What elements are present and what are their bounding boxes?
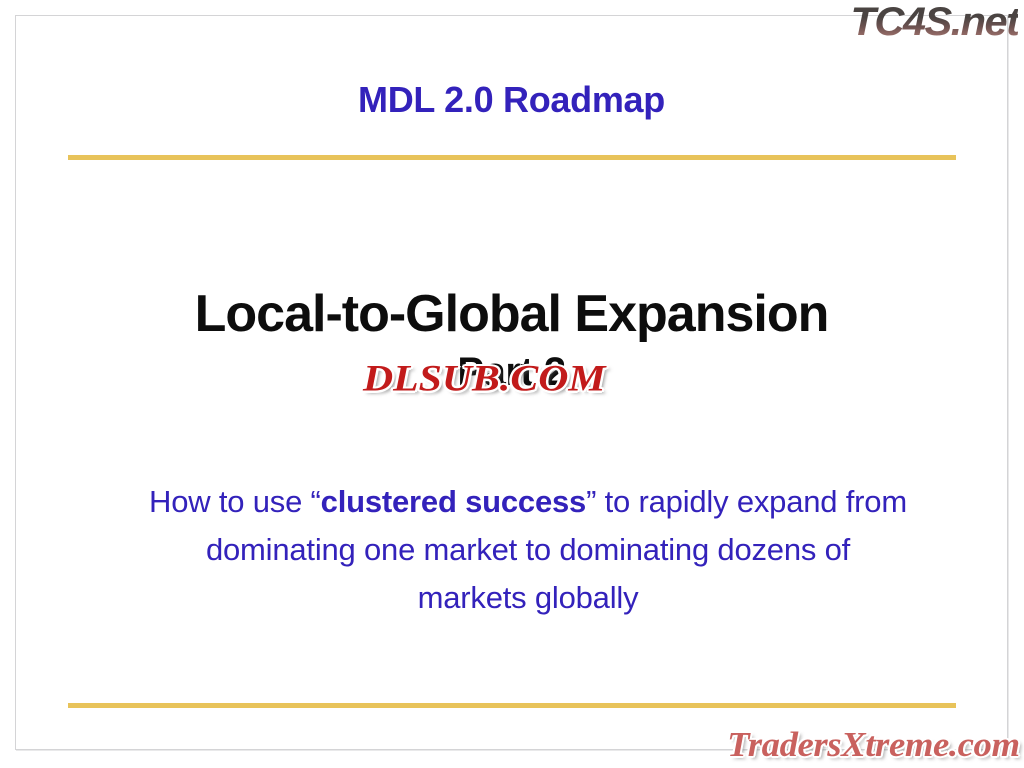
watermark-tradersxtreme-icon: TradersXtreme.com	[727, 727, 1020, 762]
body-emphasis: clustered success	[321, 484, 586, 519]
divider-rule-top	[68, 155, 956, 160]
watermark-tc4s-icon: TC4S.net	[850, 2, 1018, 42]
watermark-dlsub-icon: DLSUB.COM	[363, 360, 605, 397]
main-title: Local-to-Global Expansion	[16, 284, 1007, 344]
body-paragraph: How to use “clustered success” to rapidl…	[148, 478, 908, 622]
slide-heading: MDL 2.0 Roadmap	[16, 79, 1007, 121]
body-lead: How to use “	[149, 484, 321, 519]
divider-rule-bottom	[68, 703, 956, 708]
